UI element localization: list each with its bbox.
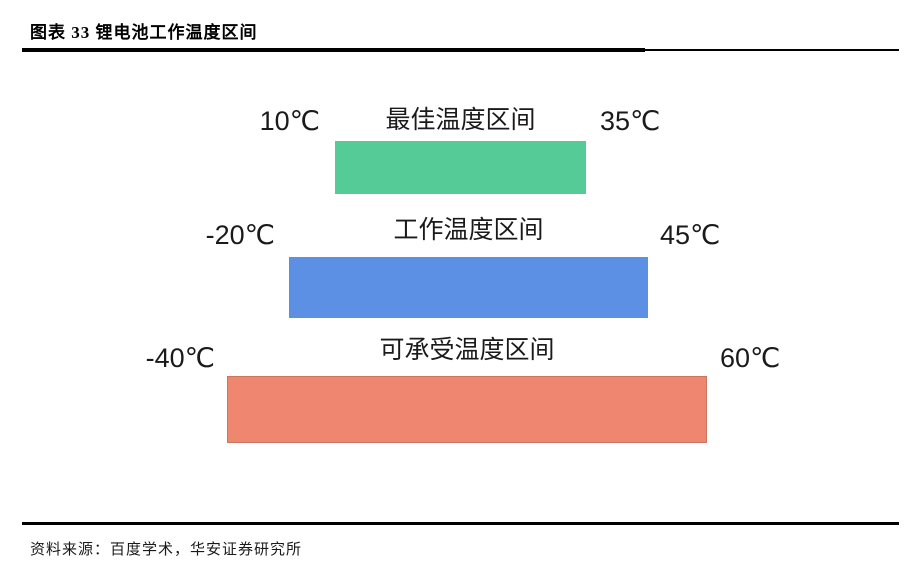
range-min-label-operating: -20℃ xyxy=(130,222,275,249)
range-bar-operating xyxy=(289,257,648,318)
range-bar-tolerable xyxy=(227,376,707,443)
page-title: 图表 33 锂电池工作温度区间 xyxy=(30,18,258,43)
source-text: 资料来源：百度学术，华安证券研究所 xyxy=(30,538,302,559)
range-min-label-tolerable: -40℃ xyxy=(75,345,215,372)
range-min-label-optimal: 10℃ xyxy=(180,108,320,135)
range-bar-optimal xyxy=(335,141,586,194)
range-name-tolerable: 可承受温度区间 xyxy=(227,338,707,363)
range-max-label-operating: 45℃ xyxy=(660,222,800,249)
range-name-optimal: 最佳温度区间 xyxy=(335,108,586,133)
range-max-label-optimal: 35℃ xyxy=(600,108,740,135)
range-max-label-tolerable: 60℃ xyxy=(720,345,860,372)
title-rule-thick xyxy=(22,48,645,52)
title-rule-thin xyxy=(645,49,899,51)
source-rule xyxy=(22,522,899,525)
range-name-operating: 工作温度区间 xyxy=(289,218,648,243)
temperature-range-chart: 10℃ 最佳温度区间 35℃ -20℃ 工作温度区间 45℃ -40℃ 可承受温… xyxy=(0,60,921,510)
